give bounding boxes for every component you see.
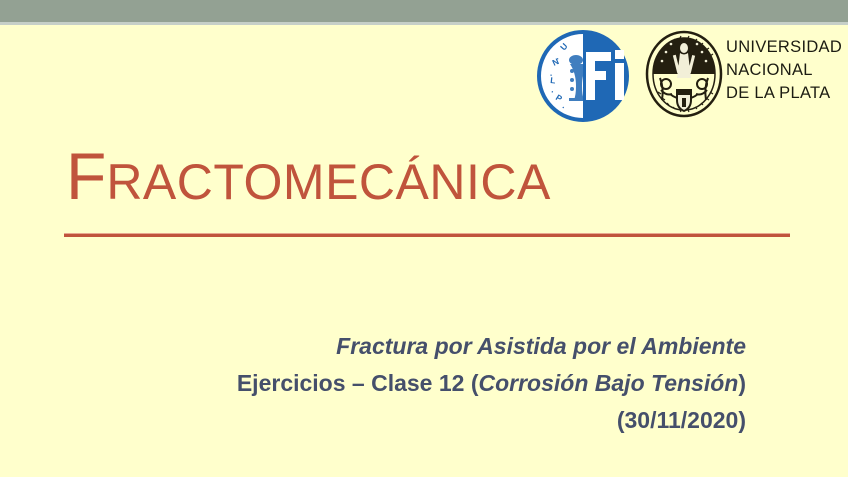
university-name-line-2: NACIONAL: [726, 59, 848, 82]
page-title-initial: F: [66, 139, 106, 213]
page-title-rest: RACTOMECÁNICA: [106, 154, 551, 210]
unlp-university-crest-icon: [644, 28, 724, 124]
university-name-line-1: UNIVERSIDAD: [726, 36, 848, 59]
unlp-engineering-faculty-logo-icon: U . N . L . P .: [536, 30, 630, 122]
subtitle-line-3-date: (30/11/2020): [60, 402, 746, 439]
subtitle-line-2-italic: Corrosión Bajo Tensión: [479, 370, 739, 396]
top-decorative-bar: [0, 0, 848, 22]
subtitle-line-1: Fractura por Asistida por el Ambiente: [60, 328, 746, 365]
presentation-slide: U . N . L . P .: [0, 0, 848, 477]
top-bar-divider: [0, 22, 848, 25]
university-name-line-3: DE LA PLATA: [726, 82, 848, 105]
subtitle-line-2: Ejercicios – Clase 12 (Corrosión Bajo Te…: [60, 365, 746, 402]
logo-cluster: U . N . L . P .: [536, 28, 836, 124]
title-underline: [64, 234, 790, 237]
subtitle-block: Fractura por Asistida por el Ambiente Ej…: [60, 328, 746, 439]
page-title: FRACTOMECÁNICA: [66, 136, 551, 222]
subtitle-line-2-prefix: Ejercicios – Clase 12 (: [237, 370, 479, 396]
university-name-text: UNIVERSIDAD NACIONAL DE LA PLATA: [726, 36, 848, 105]
subtitle-line-2-suffix: ): [738, 370, 746, 396]
